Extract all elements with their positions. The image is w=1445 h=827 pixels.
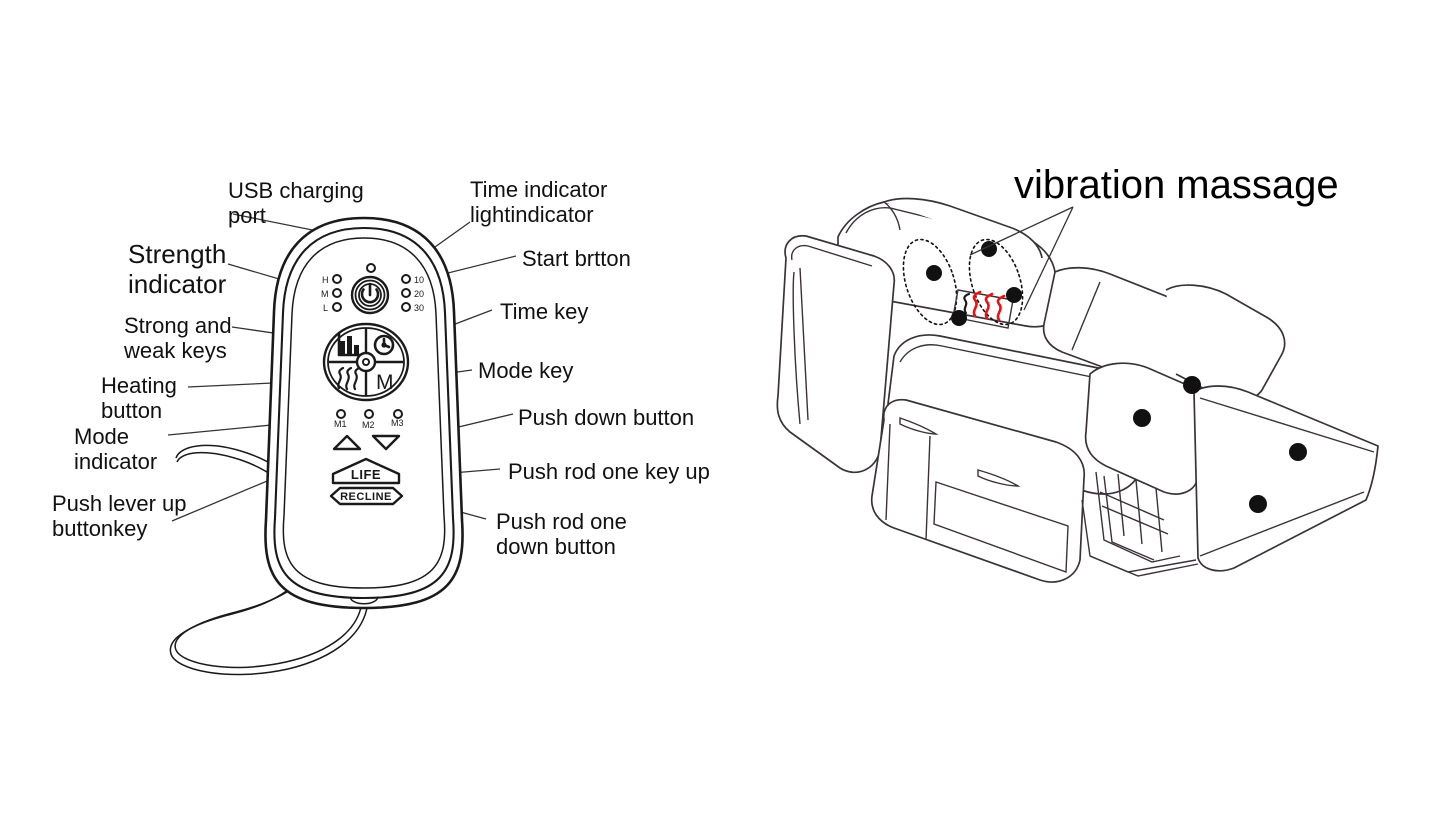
- vibration-massage-title: vibration massage: [1014, 163, 1339, 207]
- diagram-canvas: H M L 10 20 30: [0, 0, 1445, 827]
- recliner-chair-illustration: [0, 0, 1445, 827]
- chair-structure: [777, 199, 1378, 582]
